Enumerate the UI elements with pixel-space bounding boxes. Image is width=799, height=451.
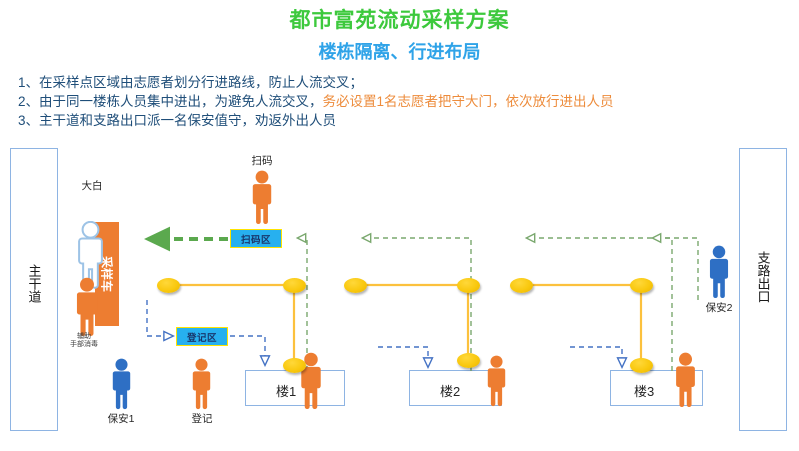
green-return-route-3	[527, 238, 672, 371]
queue-node-1b	[283, 278, 306, 293]
person-dabai	[79, 222, 102, 288]
queue-node-2a	[344, 278, 367, 293]
green-return-route-4	[653, 238, 698, 300]
blue-flow-to-building-3	[570, 347, 622, 366]
person-scanner	[253, 171, 271, 224]
person-security-2	[710, 246, 728, 298]
blue-flow-to-building-2	[378, 347, 428, 366]
person-label-registrar: 登记	[176, 411, 228, 426]
queue-node-3b	[630, 278, 653, 293]
queue-node-3c	[630, 358, 653, 373]
queue-node-1a	[157, 278, 180, 293]
person-volunteer-building-3	[676, 353, 695, 407]
person-registrar	[193, 359, 210, 409]
person-label-assistant-line2: 手部消毒	[58, 341, 110, 350]
person-label-scanner: 扫码	[236, 153, 288, 168]
person-volunteer-building-2	[488, 356, 505, 406]
person-security-1	[113, 359, 130, 409]
person-label-dabai: 大白	[64, 178, 120, 193]
person-label-security-2: 保安2	[693, 300, 745, 315]
blue-flow-to-building-1	[230, 336, 265, 364]
blue-flow-to-registration	[147, 300, 172, 336]
diagram-canvas: 都市富苑流动采样方案 楼栋隔离、行进布局 1、在采样点区域由志愿者划分行进路线，…	[0, 0, 799, 451]
diagram-overlay	[0, 0, 799, 451]
person-label-security-1: 保安1	[95, 411, 147, 426]
queue-node-3a	[510, 278, 533, 293]
green-return-route-1	[298, 238, 307, 371]
queue-node-2c	[457, 353, 480, 368]
queue-node-2b	[457, 278, 480, 293]
queue-node-1c	[283, 358, 306, 373]
green-return-route-2	[363, 238, 471, 371]
queue-path-links	[168, 285, 641, 366]
